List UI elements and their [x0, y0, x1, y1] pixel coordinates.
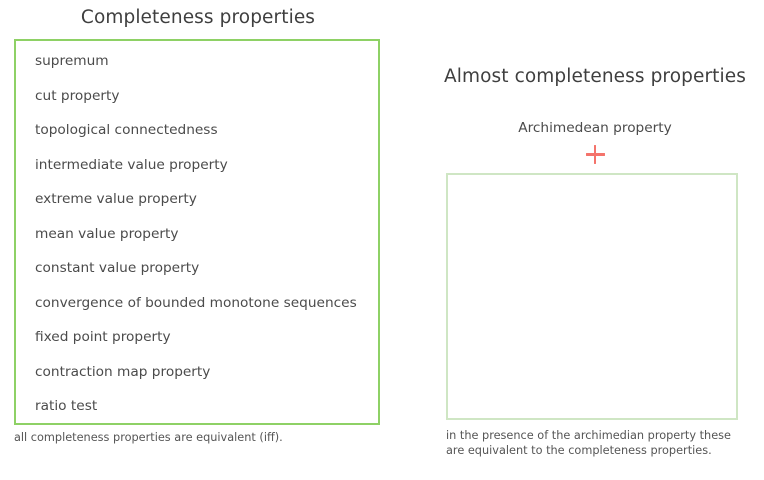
almost-completeness-properties-column: Almost completeness properties Archimede…	[420, 0, 764, 480]
list-item: intermediate value property	[35, 156, 375, 174]
almost-completeness-properties-box	[446, 173, 738, 420]
left-column-heading: Completeness properties	[14, 7, 382, 28]
list-item: fixed point property	[35, 328, 375, 346]
list-item: contraction map property	[35, 363, 375, 381]
list-item: ratio test	[35, 397, 375, 415]
list-item: constant value property	[35, 259, 375, 277]
list-item: supremum	[35, 52, 375, 70]
list-item: cut property	[35, 87, 375, 105]
list-item: convergence of bounded monotone sequence…	[35, 294, 375, 312]
footnote-line: in the presence of the archimedian prope…	[446, 429, 764, 444]
list-item: mean value property	[35, 225, 375, 243]
right-column-heading: Almost completeness properties	[440, 66, 750, 87]
list-item: topological connectedness	[35, 121, 375, 139]
diagram-canvas: Completeness properties supremum cut pro…	[0, 0, 764, 480]
plus-icon	[585, 144, 605, 164]
plus-operator	[440, 144, 750, 170]
list-item: extreme value property	[35, 190, 375, 208]
archimedean-property-label: Archimedean property	[440, 120, 750, 136]
completeness-properties-list: supremum cut property topological connec…	[35, 52, 375, 415]
left-column-footnote: all completeness properties are equivale…	[14, 431, 394, 446]
right-column-footnote: in the presence of the archimedian prope…	[446, 429, 764, 458]
completeness-properties-column: Completeness properties supremum cut pro…	[0, 0, 400, 480]
footnote-line: are equivalent to the completeness prope…	[446, 444, 764, 459]
